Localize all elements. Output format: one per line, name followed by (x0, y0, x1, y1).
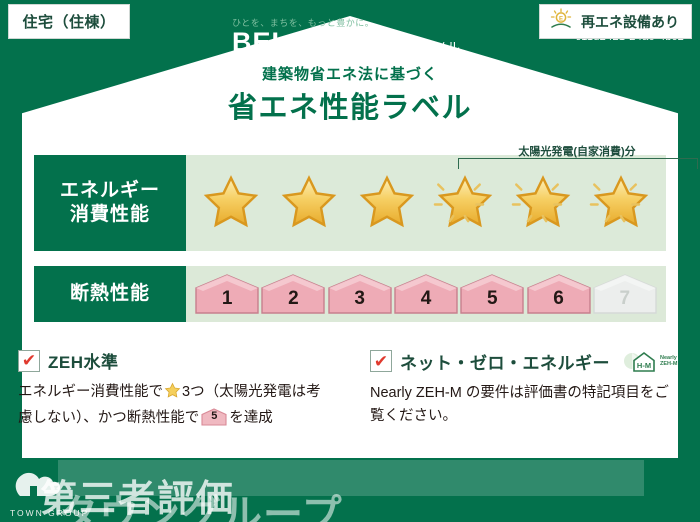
renewable-energy-badge: E 再エネ設備あり (539, 4, 692, 39)
insulation-badge-label: 5 (487, 288, 498, 315)
solar-generation-note: 太陽光発電(自家消費)分 (452, 143, 700, 159)
star-icon (280, 174, 338, 232)
insulation-badge-label: 1 (222, 288, 233, 315)
notes-section: ✔ ZEH水準 エネルギー消費性能で3つ（太陽光発電は考慮しない）、かつ断熱性能… (0, 348, 700, 430)
zeh-m-logo-caption: Nearly ZEH-M (660, 355, 677, 368)
bels-mark: BELS (232, 30, 374, 56)
zeh-note: ✔ ZEH水準 エネルギー消費性能で3つ（太陽光発電は考慮しない）、かつ断熱性能… (0, 348, 352, 430)
star-icon (202, 174, 260, 232)
zeh-m-caption-line1: Nearly (660, 355, 677, 361)
energy-consumption-key: エネルギー 消費性能 (34, 155, 186, 251)
inline-insulation-badge: 5 (201, 408, 227, 426)
energy-consumption-value: 太陽光発電(自家消費)分 (186, 155, 666, 251)
label-subtitle: 建築物省エネ法に基づく (0, 63, 700, 84)
star-rating (186, 155, 666, 251)
zeh-m-logo-icon: H-M Nearly ZEH-M (623, 348, 677, 374)
net-zero-note-title: ネット・ゼロ・エネルギー (400, 349, 610, 374)
star-icon (592, 174, 650, 232)
svg-text:E: E (559, 17, 563, 23)
insulation-badge: 3 (327, 273, 393, 315)
inline-badge-label: 5 (201, 408, 227, 426)
insulation-badge: 1 (194, 273, 260, 315)
star-icon (436, 174, 494, 232)
insulation-badge-label: 4 (421, 288, 432, 315)
insulation-badge: 7 (592, 273, 658, 315)
zeh-note-body: エネルギー消費性能で3つ（太陽光発電は考慮しない）、かつ断熱性能で5を達成 (18, 381, 334, 430)
insulation-badge: 6 (526, 273, 592, 315)
insulation-value: 1 2 3 4 5 6 7 (186, 266, 666, 322)
net-zero-note-body: Nearly ZEH-M の要件は評価書の特記項目をご覧ください。 (370, 382, 682, 428)
zeh-m-caption-line2: ZEH-M (660, 361, 677, 367)
solar-bracket (458, 158, 698, 169)
insulation-badge-list: 1 2 3 4 5 6 7 (186, 266, 666, 322)
energy-consumption-row: エネルギー 消費性能 太陽光発電(自家消費)分 (34, 155, 666, 251)
town-group-text: TOWN GROUP (10, 508, 89, 518)
zeh-body-part1: エネルギー消費性能で (18, 384, 163, 400)
insulation-badge: 2 (260, 273, 326, 315)
insulation-badge-label: 2 (288, 288, 299, 315)
zeh-note-header: ✔ ZEH水準 (18, 348, 334, 373)
sun-icon: E (548, 8, 574, 35)
label-title: 省エネ性能ラベル (0, 84, 700, 126)
zeh-body-part3: を達成 (229, 410, 273, 426)
insulation-key: 断熱性能 (34, 266, 186, 322)
star-icon (514, 174, 572, 232)
zeh-note-title: ZEH水準 (48, 348, 119, 373)
check-icon: ✔ (18, 350, 40, 372)
net-zero-note: ✔ ネット・ゼロ・エネルギー H-M Nearly ZEH-M Nearly Z… (352, 348, 700, 430)
insulation-badge: 5 (459, 273, 525, 315)
watermark-band (58, 460, 644, 496)
insulation-badge-label: 6 (553, 288, 564, 315)
energy-performance-label: 住宅（住棟） E 再エネ設備あり 建築物省エネ法に基づく 省エネ性能ラベル (0, 0, 700, 522)
insulation-badge-label: 3 (354, 288, 365, 315)
inline-star-icon (164, 382, 181, 407)
orumeru-label: オルメル (408, 37, 460, 56)
star-icon (358, 174, 416, 232)
insulation-performance-row: 断熱性能 1 2 3 4 5 6 (34, 266, 666, 322)
housing-type-label: 住宅（住棟） (22, 11, 115, 32)
insulation-badge: 4 (393, 273, 459, 315)
net-zero-note-header: ✔ ネット・ゼロ・エネルギー H-M Nearly ZEH-M (370, 348, 682, 374)
check-icon: ✔ (370, 350, 392, 372)
bels-logo: ひとを、まちを、もっと豊かに。 BELS (232, 16, 374, 56)
insulation-badge-label: 7 (620, 288, 631, 315)
insulation-key-label: 断熱性能 (70, 282, 150, 306)
svg-text:H-M: H-M (637, 361, 651, 370)
renewable-energy-label: 再エネ設備あり (581, 12, 679, 32)
energy-key-line1: エネルギー (60, 179, 160, 203)
energy-key-line2: 消費性能 (70, 203, 150, 227)
housing-type-tab: 住宅（住棟） (8, 4, 130, 39)
